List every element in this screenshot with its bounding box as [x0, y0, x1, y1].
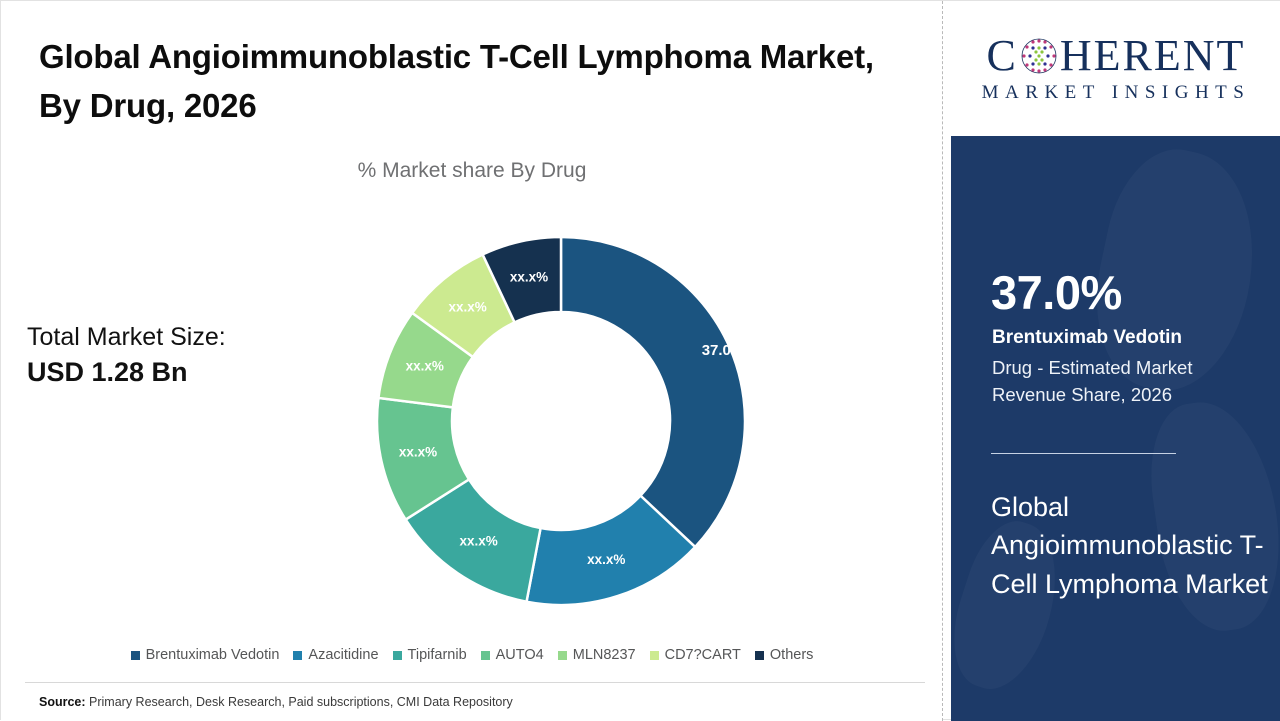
legend-item[interactable]: MLN8237 [558, 647, 636, 663]
highlight-drug-name: Brentuximab Vedotin [992, 327, 1182, 350]
legend-swatch-icon [293, 651, 302, 660]
donut-slice-label: xx.x% [460, 534, 498, 549]
logo-letter-c: C [987, 34, 1018, 78]
highlight-percent: 37.0% [991, 269, 1122, 316]
legend-swatch-icon [755, 651, 764, 660]
legend-item[interactable]: CD7?CART [650, 647, 741, 663]
logo-word-herent: HERENT [1060, 34, 1246, 78]
panel-divider [942, 1, 943, 721]
legend-swatch-icon [393, 651, 402, 660]
legend-item[interactable]: Others [755, 647, 814, 663]
legend-swatch-icon [481, 651, 490, 660]
legend-item[interactable]: Tipifarnib [393, 647, 467, 663]
donut-slice-label: xx.x% [510, 270, 548, 285]
logo-wordmark: C [966, 34, 1266, 78]
chart-subtitle: % Market share By Drug [1, 159, 943, 183]
total-market-size-value: USD 1.28 Bn [27, 355, 327, 390]
legend-swatch-icon [650, 651, 659, 660]
highlight-panel: C [951, 1, 1280, 721]
infographic-page: Global Angioimmunoblastic T-Cell Lymphom… [0, 0, 1280, 720]
donut-chart-svg: 37.0%xx.x%xx.x%xx.x%xx.x%xx.x%xx.x% [371, 231, 751, 611]
donut-slice-label: xx.x% [406, 359, 444, 374]
legend-swatch-icon [558, 651, 567, 660]
coherent-market-insights-logo: C [966, 34, 1266, 104]
legend-swatch-icon [131, 651, 140, 660]
legend-label: Azacitidine [308, 647, 378, 663]
legend-label: MLN8237 [573, 647, 636, 663]
legend-label: AUTO4 [496, 647, 544, 663]
logo-container: C [951, 1, 1280, 136]
report-title: Global Angioimmunoblastic T-Cell Lymphom… [991, 488, 1271, 603]
source-divider [25, 682, 925, 683]
chart-panel: Global Angioimmunoblastic T-Cell Lymphom… [1, 1, 943, 721]
highlight-rule [991, 453, 1176, 454]
total-market-size: Total Market Size: USD 1.28 Bn [27, 323, 327, 390]
dotted-globe-icon [1019, 36, 1059, 76]
source-text: Primary Research, Desk Research, Paid su… [89, 695, 513, 709]
highlight-description: Drug - Estimated Market Revenue Share, 2… [992, 355, 1262, 409]
legend-item[interactable]: Azacitidine [293, 647, 378, 663]
legend-item[interactable]: AUTO4 [481, 647, 544, 663]
legend-label: Brentuximab Vedotin [146, 647, 280, 663]
legend-label: Tipifarnib [408, 647, 467, 663]
source-note: Source: Primary Research, Desk Research,… [39, 695, 513, 709]
source-label: Source: [39, 695, 86, 709]
legend-item[interactable]: Brentuximab Vedotin [131, 647, 280, 663]
total-market-size-label: Total Market Size: [27, 323, 327, 352]
donut-slice-label: xx.x% [399, 445, 437, 460]
logo-tagline: MARKET INSIGHTS [966, 82, 1266, 104]
page-title: Global Angioimmunoblastic T-Cell Lymphom… [39, 33, 899, 131]
chart-legend: Brentuximab VedotinAzacitidineTipifarnib… [1, 647, 943, 663]
legend-label: Others [770, 647, 814, 663]
legend-label: CD7?CART [665, 647, 741, 663]
donut-slice[interactable] [561, 237, 745, 547]
donut-slice-label: xx.x% [587, 552, 625, 567]
donut-slice-label: xx.x% [448, 300, 486, 315]
donut-chart: 37.0%xx.x%xx.x%xx.x%xx.x%xx.x%xx.x% [371, 231, 751, 611]
donut-slice-label: 37.0% [702, 342, 745, 359]
